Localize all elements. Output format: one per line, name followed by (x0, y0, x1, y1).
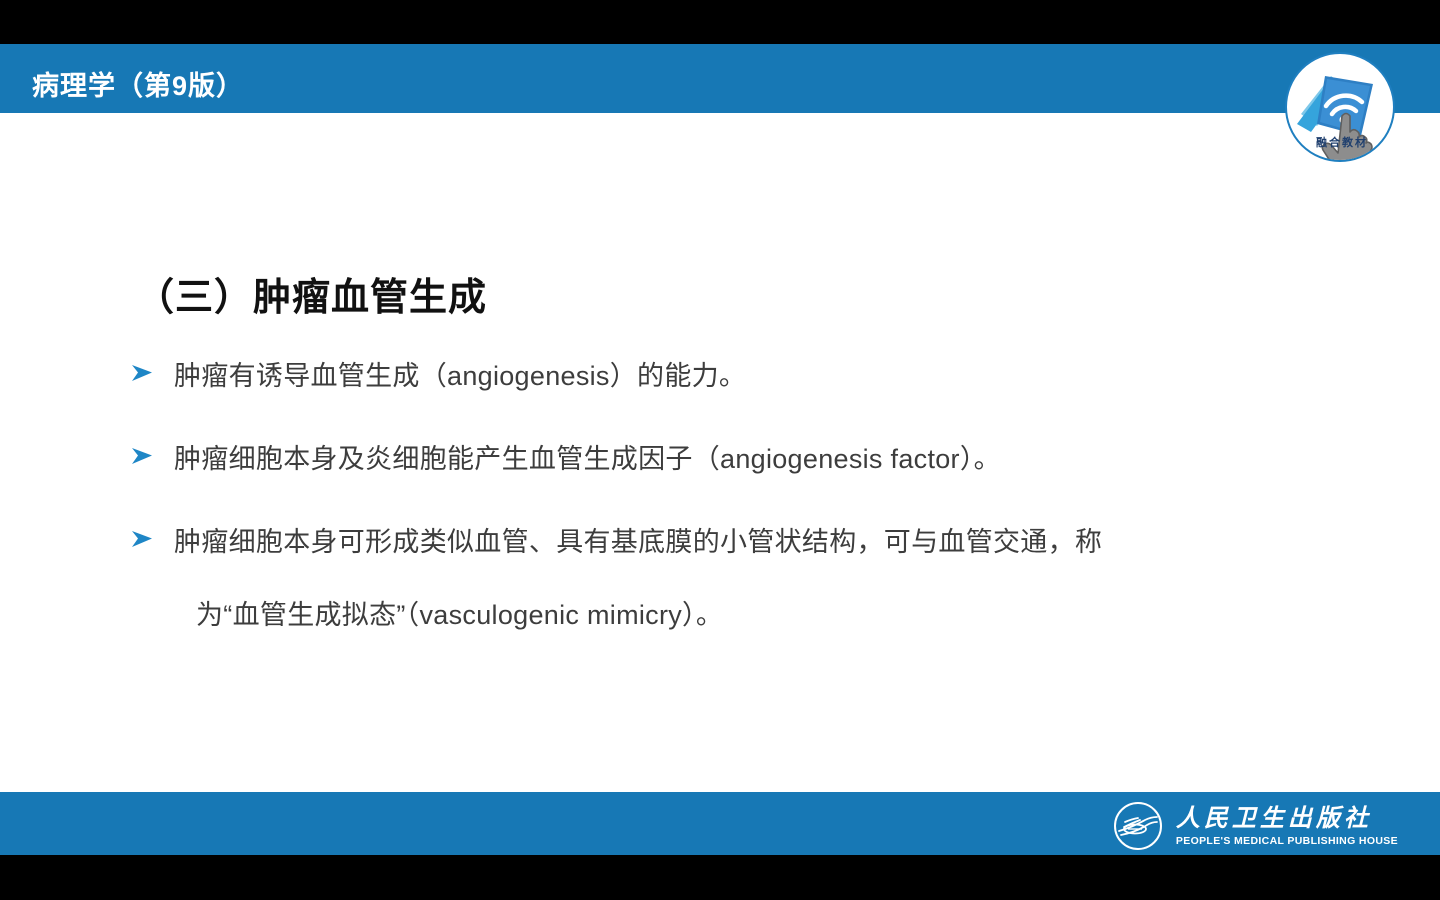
publisher-logo: 人民卫生出版社 PEOPLE'S MEDICAL PUBLISHING HOUS… (1112, 800, 1398, 852)
publisher-name-en: PEOPLE'S MEDICAL PUBLISHING HOUSE (1176, 835, 1398, 847)
publisher-wordmark: 人民卫生出版社 PEOPLE'S MEDICAL PUBLISHING HOUS… (1176, 805, 1398, 846)
list-item-text-wrapper: 肿瘤细胞本身可形成类似血管、具有基底膜的小管状结构，可与血管交通，称 为“血管生… (174, 522, 1310, 636)
integrated-textbook-badge: 融合教材 (1285, 52, 1395, 162)
slide-canvas: 病理学（第9版） (0, 44, 1440, 855)
list-item: 肿瘤细胞本身及炎细胞能产生血管生成因子（angiogenesis factor）… (130, 439, 1310, 480)
chevron-right-icon (130, 439, 174, 467)
chevron-right-icon (130, 356, 174, 384)
list-item: 肿瘤细胞本身可形成类似血管、具有基底膜的小管状结构，可与血管交通，称 为“血管生… (130, 522, 1310, 636)
presentation-slide: 病理学（第9版） (0, 0, 1440, 900)
chevron-right-icon (130, 522, 174, 550)
publisher-name-cn: 人民卫生出版社 (1176, 805, 1398, 831)
list-item-text: 肿瘤细胞本身及炎细胞能产生血管生成因子（angiogenesis factor）… (174, 439, 1310, 480)
page-title: （三）肿瘤血管生成 (136, 266, 487, 321)
list-item: 肿瘤有诱导血管生成（angiogenesis）的能力。 (130, 356, 1310, 397)
pmph-emblem-icon (1112, 800, 1164, 852)
list-item-text: 肿瘤有诱导血管生成（angiogenesis）的能力。 (174, 356, 1310, 397)
badge-caption: 融合教材 (1287, 134, 1395, 150)
list-item-text-continued: 为“血管生成拟态”（vasculogenic mimicry）。 (174, 595, 1310, 636)
header-title: 病理学（第9版） (32, 64, 244, 103)
bullet-list: 肿瘤有诱导血管生成（angiogenesis）的能力。 肿瘤细胞本身及炎细胞能产… (130, 356, 1310, 678)
list-item-text: 肿瘤细胞本身可形成类似血管、具有基底膜的小管状结构，可与血管交通，称 (174, 527, 1102, 557)
